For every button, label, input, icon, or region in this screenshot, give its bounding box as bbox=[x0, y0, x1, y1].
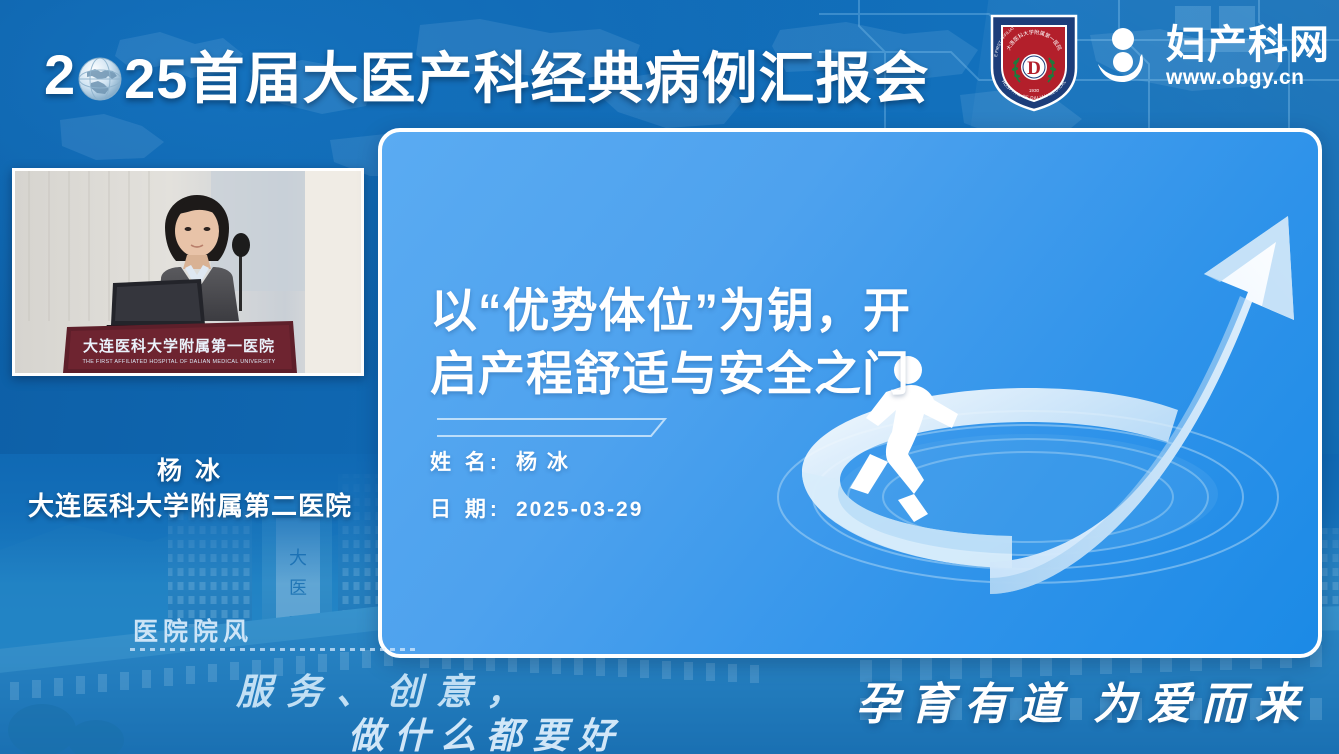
header-banner: 2 bbox=[0, 0, 1339, 128]
event-title: 2 bbox=[44, 34, 929, 115]
calligraphy-line2-text: 做什么都要好 bbox=[348, 716, 624, 754]
slide-title-line1: 以“优势体位”为钥，开 bbox=[430, 280, 1030, 343]
calligraphy-slogan: 服务、创意， 做什么都要好 bbox=[228, 660, 648, 754]
bottom-slogan: 孕育有道 为爱而来 bbox=[856, 668, 1309, 732]
hospital-shield-badge-icon: 大连医科大学附属第一医院 HOSPITAL OF DALIAN MEDICAL … bbox=[986, 10, 1082, 114]
mother-and-baby-icon bbox=[1090, 24, 1156, 90]
meta-label-date: 日 期: bbox=[430, 497, 516, 522]
obgy-logo[interactable]: 妇产科网 www.obgy.cn bbox=[1090, 24, 1330, 90]
slide-meta: 姓 名: 杨 冰 日 期: 2025-03-29 bbox=[430, 450, 643, 544]
svg-text:1930: 1930 bbox=[1029, 88, 1040, 93]
globe-icon bbox=[77, 56, 123, 102]
obgy-url: www.obgy.cn bbox=[1166, 67, 1330, 89]
svg-text:D: D bbox=[1027, 58, 1041, 79]
speaker-video-thumbnail[interactable]: 大连医科大学附属第一医院 THE FIRST AFFILIATED HOSPIT… bbox=[12, 168, 364, 376]
obgy-logo-text: 妇产科网 www.obgy.cn bbox=[1166, 25, 1330, 89]
svg-text:THE FIRST AFFILIATED HOSPITAL: THE FIRST AFFILIATED HOSPITAL OF DALIAN … bbox=[82, 359, 275, 365]
meta-label-name: 姓 名: bbox=[430, 450, 516, 475]
speaker-info: 杨 冰 大连医科大学附属第二医院 bbox=[0, 455, 380, 524]
event-title-part2: 25首届大医产科经典病例汇报会 bbox=[124, 34, 929, 115]
title-underline-decoration bbox=[437, 416, 672, 440]
obgy-name-cn: 妇产科网 bbox=[1166, 25, 1330, 66]
svg-text:大连医科大学附属第一医院: 大连医科大学附属第一医院 bbox=[83, 337, 275, 355]
meta-value-name: 杨 冰 bbox=[516, 450, 570, 475]
slide-card: 以“优势体位”为钥，开 启产程舒适与安全之门 姓 名: 杨 冰 日 期: 202… bbox=[378, 128, 1322, 658]
calligraphy-line1-text: 服务、创意， bbox=[235, 672, 536, 712]
caption-dotted-rule bbox=[130, 648, 420, 651]
slide-title-line2: 启产程舒适与安全之门 bbox=[430, 343, 1030, 406]
event-title-part1: 2 bbox=[44, 42, 76, 107]
hospital-caption: 医院院风 bbox=[133, 612, 253, 648]
speaker-organization: 大连医科大学附属第二医院 bbox=[0, 489, 380, 524]
slide-title: 以“优势体位”为钥，开 启产程舒适与安全之门 bbox=[430, 280, 1030, 406]
meta-row-name: 姓 名: 杨 冰 bbox=[430, 450, 643, 475]
speaker-name: 杨 冰 bbox=[0, 455, 380, 489]
meta-value-date: 2025-03-29 bbox=[516, 497, 643, 522]
meta-row-date: 日 期: 2025-03-29 bbox=[430, 497, 643, 522]
presentation-slide-screenshot: 大 医 一 院 bbox=[0, 0, 1339, 754]
